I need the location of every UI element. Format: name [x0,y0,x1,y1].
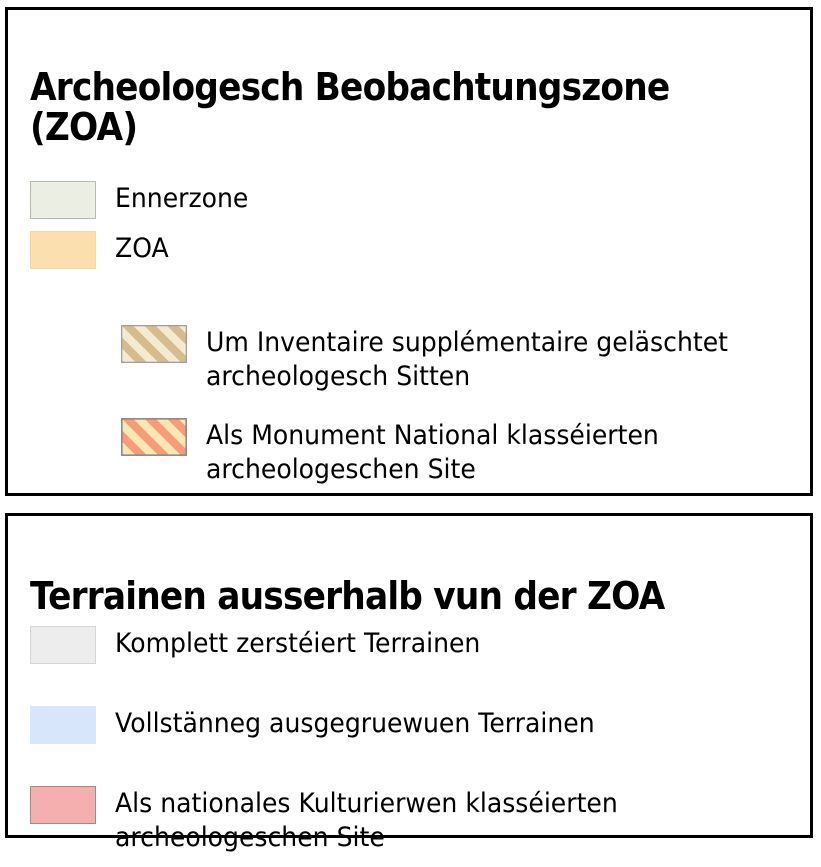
legend-item-inventaire-supplementaire[interactable]: Um Inventaire supplémentaire geläschtet … [8,325,810,394]
legend-item-ennerzone-label: Ennerzone [115,181,761,216]
legend-item-monument-national-label: Als Monument National klasséierten arche… [206,418,768,487]
legend-row-spacer [8,676,810,706]
hatch-swatch-monument-national [121,418,187,456]
color-swatch-nationales-kulturierwen [30,786,96,824]
hatch-swatch-inventaire-supplementaire [121,325,187,363]
color-swatch-vollstaenneg-ausgegruewuen [30,706,96,744]
legend-section-ausserhalb-title: Terrainen ausserhalb vun der ZOA [30,576,808,616]
color-swatch-zoa [30,231,96,269]
legend-item-ennerzone[interactable]: Ennerzone [8,181,810,219]
legend-item-vollstaenneg-ausgegruewuen-label: Vollstänneg ausgegruewuen Terrainen [115,706,761,741]
legend-section-ausserhalb: Terrainen ausserhalb vun der ZOA Komplet… [5,513,813,838]
legend-item-zoa-label: ZOA [115,231,761,266]
legend-item-monument-national[interactable]: Als Monument National klasséierten arche… [8,418,810,487]
map-legend: Archeologesch Beobachtungszone (ZOA) Enn… [0,0,821,845]
legend-item-inventaire-supplementaire-label: Um Inventaire supplémentaire geläschtet … [206,325,768,394]
legend-item-zoa[interactable]: ZOA [8,231,810,269]
legend-item-komplett-zerstoert[interactable]: Komplett zerstéiert Terrainen [8,626,810,664]
legend-row-spacer [8,400,810,418]
diagonal-hatch-icon [121,325,187,363]
legend-item-vollstaenneg-ausgegruewuen[interactable]: Vollstänneg ausgegruewuen Terrainen [8,706,810,744]
legend-section-zoa: Archeologesch Beobachtungszone (ZOA) Enn… [5,7,813,496]
legend-group-spacer [8,281,810,325]
color-swatch-komplett-zerstoert [30,626,96,664]
legend-item-komplett-zerstoert-label: Komplett zerstéiert Terrainen [115,626,761,661]
color-swatch-ennerzone [30,181,96,219]
legend-section-zoa-items: Ennerzone ZOA [8,181,810,493]
legend-row-spacer [8,756,810,786]
legend-section-zoa-title: Archeologesch Beobachtungszone (ZOA) [30,67,808,148]
diagonal-hatch-icon [121,418,187,456]
legend-section-ausserhalb-items: Komplett zerstéiert Terrainen Vollstänne… [8,626,810,867]
